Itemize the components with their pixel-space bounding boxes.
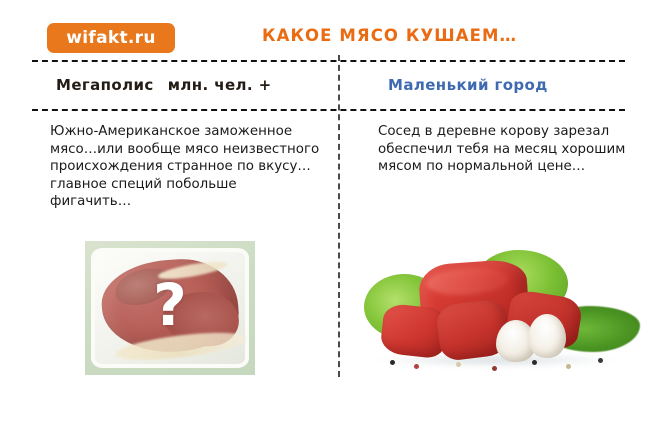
column-megapolis: Мегаполис млн. чел. + Южно-Американское … [32,60,332,211]
question-mark-overlay: ? [147,276,193,334]
garlic-bulb-right [528,314,566,358]
peppercorn-2 [414,364,419,369]
peppercorn-7 [598,358,603,363]
poster-canvas: wifakt.ru КАКОЕ МЯСО КУШАЕМ… Мегаполис м… [0,0,650,425]
column-right-body-text: Сосед в деревне корову зарезал обеспечил… [350,109,632,176]
photo-fresh-beef [360,240,645,376]
photo-packaged-meat: ? [85,241,255,375]
column-small-town: Маленький город Сосед в деревне корову з… [350,60,630,176]
peppercorn-1 [390,360,395,365]
column-left-heading: Мегаполис млн. чел. + [32,60,332,109]
column-left-heading-sub: млн. чел. + [168,76,272,94]
peppercorn-3 [456,362,461,367]
column-left-heading-main: Мегаполис [56,76,154,94]
peppercorn-6 [566,364,571,369]
page-title: КАКОЕ МЯСО КУШАЕМ… [262,26,562,45]
divider-vertical-center [338,55,340,377]
column-left-body-text: Южно-Американское заможенное мясо…или во… [32,109,324,211]
site-logo-label: wifakt.ru [66,28,155,48]
site-logo-badge[interactable]: wifakt.ru [47,23,175,53]
peppercorn-5 [532,360,537,365]
peppercorn-4 [492,366,497,371]
column-right-heading-main: Маленький город [388,76,548,94]
column-right-heading: Маленький город [350,60,630,109]
